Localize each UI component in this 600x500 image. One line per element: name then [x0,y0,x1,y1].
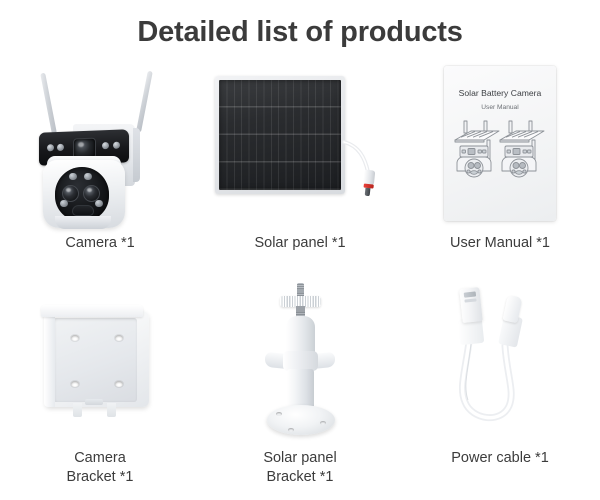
bracket-slot [85,399,103,405]
camera-top-ir-led [47,144,54,151]
product-list-page: Detailed list of products [0,0,600,500]
connector-tip [364,187,369,195]
cable-loop [435,284,565,439]
product-caption-camera: Camera *1 [65,234,134,253]
product-cell-solar-panel: Solar panel *1 [200,60,400,275]
bracket-tab [73,403,82,417]
solar-panel-bracket-icon [245,281,355,441]
product-cell-user-manual: Solar Battery Camera User Manual [400,60,600,275]
product-cell-camera: Camera *1 [0,60,200,275]
product-caption-solar-panel-bracket: Solar panel Bracket *1 [263,449,336,486]
camera-base [55,216,111,229]
solar-panel-illustration [200,60,400,232]
bracket-threaded-screw [297,283,304,297]
power-cable-illustration [400,275,600,447]
camera-illustration [0,60,200,232]
camera-antenna-right [136,70,152,132]
bracket-recess [53,318,137,402]
base-screw-hole [288,428,294,432]
base-screw-hole [276,412,282,416]
product-caption-user-manual: User Manual *1 [450,234,550,253]
camera-lens-face [55,167,109,221]
bracket-screw-hole [71,335,79,341]
manual-cover-title: Solar Battery Camera [444,88,556,98]
bracket-base-plate [267,405,335,435]
power-cable-icon [435,284,565,439]
usb-a-connector [459,287,482,323]
manual-cover-diagram [451,118,549,194]
camera-bracket-illustration [0,275,200,447]
manual-cover-subtitle: User Manual [444,104,556,111]
camera-ir-led [84,173,92,181]
bracket-top-lip [41,305,143,317]
product-caption-camera-bracket: Camera Bracket *1 [67,449,134,486]
bracket-screw-hole [115,335,123,341]
page-title: Detailed list of products [0,0,600,49]
bracket-collar [283,351,318,371]
camera-lens-right [83,185,100,202]
solar-panel-bracket-illustration [200,275,400,447]
user-manual-illustration: Solar Battery Camera User Manual [400,60,600,232]
camera-speaker-grille [72,205,94,216]
product-caption-solar-panel: Solar panel *1 [254,234,345,253]
security-camera-icon [25,64,175,229]
camera-lens-left [62,185,79,202]
product-cell-camera-bracket: Camera Bracket *1 [0,275,200,490]
camera-ir-led [69,173,77,181]
base-screw-hole [320,421,326,425]
camera-top-ir-led [57,143,64,150]
bracket-left-wall [44,313,55,407]
user-manual-icon: Solar Battery Camera User Manual [432,66,568,226]
product-caption-power-cable: Power cable *1 [451,449,549,468]
camera-ir-led [60,200,68,208]
camera-top-ir-led [102,142,109,149]
camera-antenna-left [40,72,56,134]
solar-panel-cable [213,66,388,226]
camera-bracket-icon [35,291,165,431]
solar-panel-dc-connector [361,169,375,196]
product-grid: Camera *1 [0,60,600,490]
camera-ir-led [95,200,103,208]
user-manual-cover: Solar Battery Camera User Manual [444,66,556,221]
bracket-screw-hole [115,381,123,387]
camera-top-ir-led [113,141,120,148]
solar-panel-icon [213,66,388,226]
bracket-screw-hole [71,381,79,387]
product-cell-power-cable: Power cable *1 [400,275,600,490]
bracket-tab [107,403,116,417]
product-cell-solar-panel-bracket: Solar panel Bracket *1 [200,275,400,490]
